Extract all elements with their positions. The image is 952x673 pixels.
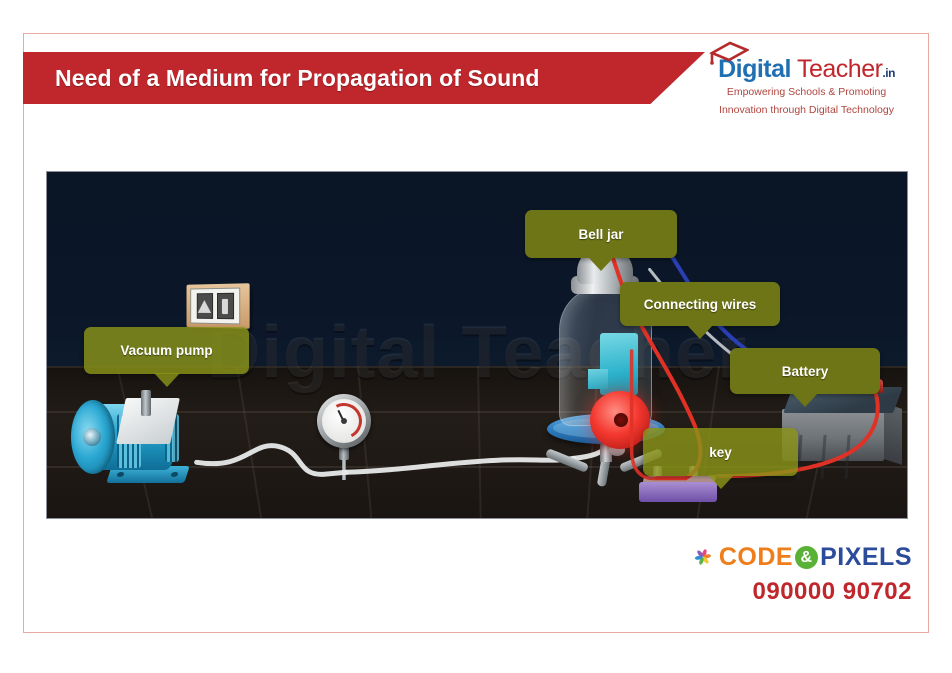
footer-phone-number: 090000 90702 <box>694 578 912 606</box>
brand-wordmark: Digital Teacher.in <box>699 56 914 82</box>
illustration-stage: Digital Teacher <box>46 171 908 519</box>
electric-bell <box>590 391 650 449</box>
label-vacuum-pump[interactable]: Vacuum pump <box>84 327 249 374</box>
logo-word-teacher: Teacher <box>791 55 882 83</box>
pinwheel-icon <box>694 537 712 577</box>
label-bell-jar-text: Bell jar <box>578 227 623 242</box>
logo-tagline-line1: Empowering Schools & Promoting <box>699 85 914 100</box>
footer-word-code: CODE <box>719 543 793 571</box>
label-key[interactable]: key <box>643 428 798 476</box>
slide-frame: Need of a Medium for Propagation of Soun… <box>23 33 929 633</box>
logo-word-tld: .in <box>882 66 895 80</box>
label-key-text: key <box>709 445 732 460</box>
footer-word-pixels: PIXELS <box>820 543 912 571</box>
brand-logo: Digital Teacher.in Empowering Schools & … <box>699 56 914 119</box>
footer-logo: CODE&PIXELS 090000 90702 <box>694 537 912 606</box>
label-battery-text: Battery <box>782 364 829 379</box>
footer-wordmark: CODE&PIXELS <box>719 545 912 570</box>
label-connecting-wires-text: Connecting wires <box>644 297 757 312</box>
footer-amp-badge: & <box>795 546 818 569</box>
graduation-cap-icon <box>709 41 749 65</box>
label-bell-jar[interactable]: Bell jar <box>525 210 677 258</box>
label-vacuum-pump-text: Vacuum pump <box>120 343 212 358</box>
title-banner: Need of a Medium for Propagation of Soun… <box>23 52 705 104</box>
label-connecting-wires[interactable]: Connecting wires <box>620 282 780 326</box>
label-battery[interactable]: Battery <box>730 348 880 394</box>
logo-tagline-line2: Innovation through Digital Technology <box>699 103 914 118</box>
page-title: Need of a Medium for Propagation of Soun… <box>23 65 540 92</box>
